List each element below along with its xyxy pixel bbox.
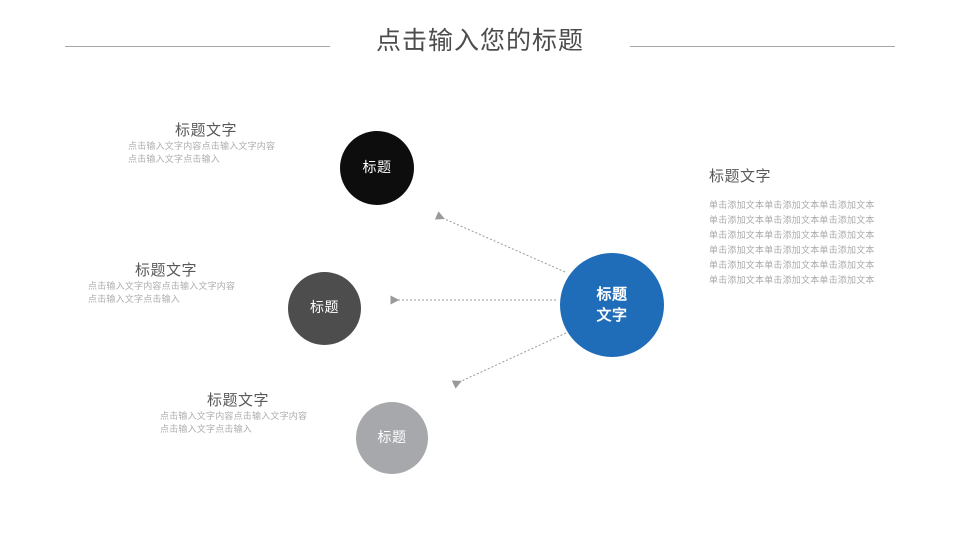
right-panel-line-2: 单击添加文本单击添加文本单击添加文本 [709,214,909,229]
right-panel-line-1: 单击添加文本单击添加文本单击添加文本 [709,199,909,214]
hub-label-line-1: 标题 [596,284,627,305]
node-circle-2[interactable]: 标题 [288,272,361,345]
node-circle-3-label: 标题 [378,430,407,447]
right-panel-line-5: 单击添加文本单击添加文本单击添加文本 [709,259,909,274]
node-body-2-line-2: 点击输入文字点击输入 [88,294,284,307]
connector-to-node-3 [455,333,566,384]
node-body-3-line-1: 点击输入文字内容点击输入文字内容 [160,411,356,424]
node-circle-2-label: 标题 [310,300,339,317]
right-text-panel: 标题文字 单击添加文本单击添加文本单击添加文本 单击添加文本单击添加文本单击添加… [709,165,909,289]
node-circle-1-label: 标题 [363,160,392,177]
node-heading-3: 标题文字 [160,389,356,411]
node-circle-3[interactable]: 标题 [356,402,428,474]
node-text-block-1: 标题文字 点击输入文字内容点击输入文字内容 点击输入文字点击输入 [128,119,324,167]
node-body-3: 点击输入文字内容点击输入文字内容 点击输入文字点击输入 [160,411,356,437]
right-panel-heading: 标题文字 [709,165,909,187]
right-panel-body: 单击添加文本单击添加文本单击添加文本 单击添加文本单击添加文本单击添加文本 单击… [709,199,909,289]
node-text-block-3: 标题文字 点击输入文字内容点击输入文字内容 点击输入文字点击输入 [160,389,356,437]
right-panel-line-6: 单击添加文本单击添加文本单击添加文本 [709,274,909,289]
node-body-2-line-1: 点击输入文字内容点击输入文字内容 [88,281,284,294]
node-circle-1[interactable]: 标题 [340,131,414,205]
node-body-1-line-1: 点击输入文字内容点击输入文字内容 [128,141,324,154]
node-heading-2: 标题文字 [88,259,284,281]
hub-circle[interactable]: 标题 文字 [560,253,664,357]
radial-diagram: 标题 文字 标题 标题文字 点击输入文字内容点击输入文字内容 点击输入文字点击输… [0,0,960,540]
right-panel-line-4: 单击添加文本单击添加文本单击添加文本 [709,244,909,259]
node-body-3-line-2: 点击输入文字点击输入 [160,424,356,437]
node-text-block-2: 标题文字 点击输入文字内容点击输入文字内容 点击输入文字点击输入 [88,259,284,307]
right-panel-line-3: 单击添加文本单击添加文本单击添加文本 [709,229,909,244]
node-body-1: 点击输入文字内容点击输入文字内容 点击输入文字点击输入 [128,141,324,167]
hub-label-line-2: 文字 [596,305,627,326]
node-heading-1: 标题文字 [128,119,324,141]
node-body-2: 点击输入文字内容点击输入文字内容 点击输入文字点击输入 [88,281,284,307]
connector-to-node-1 [438,216,565,272]
node-body-1-line-2: 点击输入文字点击输入 [128,154,324,167]
